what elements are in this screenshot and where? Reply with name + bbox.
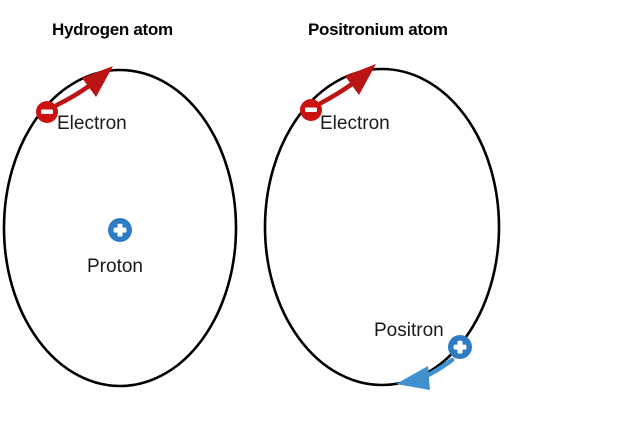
positronium-electron-marker <box>300 99 322 121</box>
label-electron-hydrogen: Electron <box>57 113 127 135</box>
hydrogen-electron-motion-arrow <box>57 66 113 105</box>
label-proton: Proton <box>87 256 143 278</box>
positronium-positron-motion-arrow <box>396 360 452 390</box>
panel-title-hydrogen: Hydrogen atom <box>52 20 173 40</box>
diagram-vector-layer <box>0 0 640 427</box>
positronium-positron-marker <box>448 335 472 359</box>
diagram-canvas: Hydrogen atom Positronium atom Electron … <box>0 0 640 427</box>
label-positron: Positron <box>374 320 444 342</box>
label-electron-positronium: Electron <box>320 113 390 135</box>
hydrogen-electron-marker <box>36 101 58 123</box>
hydrogen-proton-marker <box>108 218 132 242</box>
positronium-electron-motion-arrow <box>321 64 376 103</box>
panel-title-positronium: Positronium atom <box>308 20 448 40</box>
